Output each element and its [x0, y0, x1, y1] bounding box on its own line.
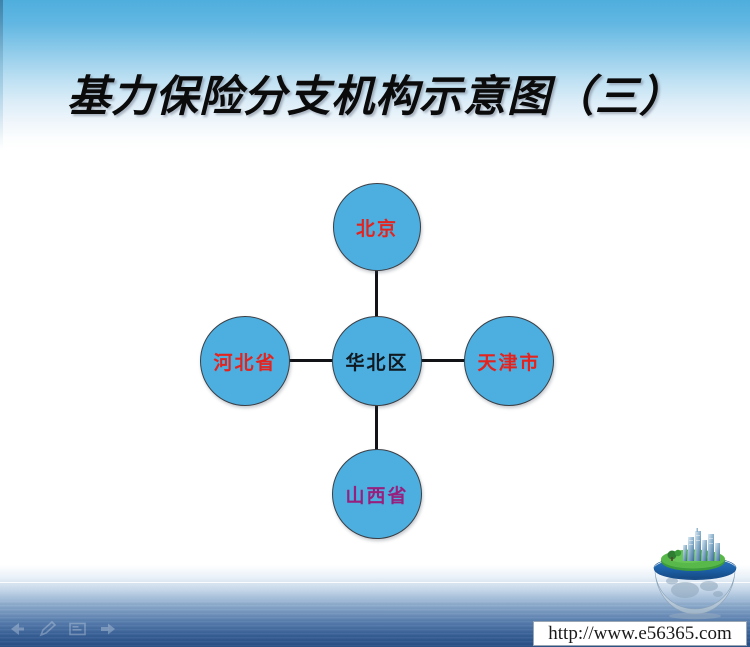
presentation-slide: 基力保险分支机构示意图（三） 北京 河北省 华北区 天津市 山西省: [0, 0, 750, 647]
globe-city-graphic: [648, 528, 742, 620]
node-tianjin-city[interactable]: 天津市: [464, 316, 554, 406]
website-url-text: http://www.e56365.com: [548, 623, 731, 645]
org-chart-diagram: 北京 河北省 华北区 天津市 山西省: [0, 0, 750, 647]
website-url-box[interactable]: http://www.e56365.com: [533, 621, 747, 646]
water-horizon-line: [0, 582, 750, 583]
node-shanxi-province-label: 山西省: [345, 481, 408, 508]
node-hebei-province-label: 河北省: [213, 348, 276, 375]
pen-tool-icon[interactable]: [38, 621, 57, 637]
slideshow-controls[interactable]: [8, 621, 117, 637]
node-tianjin-city-label: 天津市: [477, 348, 540, 375]
link-center-to-left: [288, 359, 333, 362]
node-beijing-label: 北京: [356, 214, 398, 241]
link-center-to-right: [420, 359, 465, 362]
node-north-china-region-label: 华北区: [345, 348, 408, 375]
link-center-to-bottom: [375, 404, 378, 450]
next-slide-icon[interactable]: [98, 621, 117, 637]
link-center-to-top: [375, 269, 378, 317]
previous-slide-icon[interactable]: [8, 621, 27, 637]
slide-menu-icon[interactable]: [68, 621, 87, 637]
node-shanxi-province[interactable]: 山西省: [332, 449, 422, 539]
node-north-china-region[interactable]: 华北区: [332, 316, 422, 406]
node-hebei-province[interactable]: 河北省: [200, 316, 290, 406]
node-beijing[interactable]: 北京: [333, 183, 421, 271]
